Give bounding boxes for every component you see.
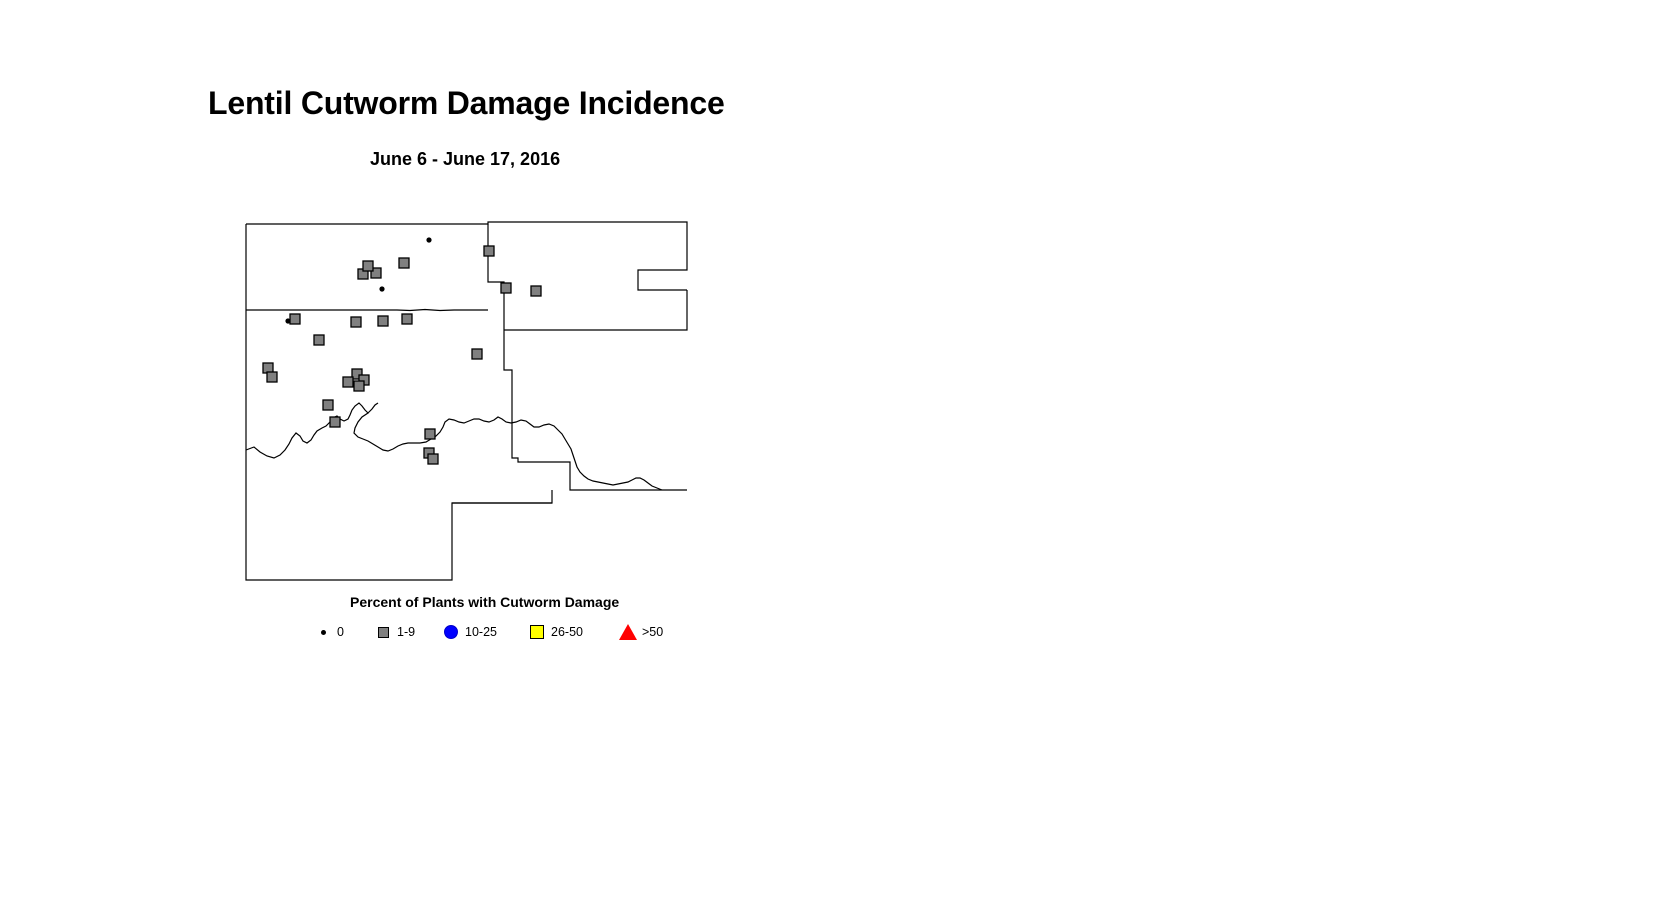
map-point-marker[interactable] bbox=[314, 335, 324, 345]
page-title: Lentil Cutworm Damage Incidence bbox=[208, 86, 725, 121]
legend-item-label: 1-9 bbox=[397, 625, 415, 639]
legend-item-0[interactable]: 0 bbox=[313, 621, 344, 643]
map-point-marker[interactable] bbox=[428, 454, 438, 464]
map-point-marker[interactable] bbox=[399, 258, 409, 268]
map-point-marker[interactable] bbox=[501, 283, 511, 293]
region-boundaries bbox=[246, 222, 687, 580]
legend-item-label: >50 bbox=[642, 625, 663, 639]
yellow-square-icon bbox=[527, 622, 547, 642]
map-point-marker[interactable] bbox=[323, 400, 333, 410]
map-point-marker[interactable] bbox=[330, 417, 340, 427]
map-point-marker[interactable] bbox=[290, 314, 300, 324]
map-point-marker[interactable] bbox=[378, 316, 388, 326]
legend-item-2650[interactable]: 26-50 bbox=[527, 621, 583, 643]
map-point-marker[interactable] bbox=[402, 314, 412, 324]
map-point-marker[interactable] bbox=[354, 381, 364, 391]
blue-circle-icon bbox=[441, 622, 461, 642]
legend-title: Percent of Plants with Cutworm Damage bbox=[350, 594, 619, 610]
date-range-subtitle: June 6 - June 17, 2016 bbox=[370, 150, 560, 170]
map-point-marker[interactable] bbox=[379, 286, 384, 291]
legend-item-1025[interactable]: 10-25 bbox=[441, 621, 497, 643]
legend-item-19[interactable]: 1-9 bbox=[373, 621, 415, 643]
map-point-marker[interactable] bbox=[351, 317, 361, 327]
legend: 01-910-2526-50>50 bbox=[313, 621, 693, 643]
map-figure: Lentil Cutworm Damage Incidence June 6 -… bbox=[0, 0, 1673, 900]
data-point-markers bbox=[263, 237, 541, 464]
map-canvas bbox=[240, 200, 740, 595]
gray-square-icon bbox=[373, 622, 393, 642]
map-point-marker[interactable] bbox=[472, 349, 482, 359]
red-triangle-icon bbox=[618, 622, 638, 642]
map-point-marker[interactable] bbox=[484, 246, 494, 256]
legend-item-label: 26-50 bbox=[551, 625, 583, 639]
map-point-marker[interactable] bbox=[425, 429, 435, 439]
small-black-dot-icon bbox=[313, 622, 333, 642]
legend-item-50[interactable]: >50 bbox=[618, 621, 663, 643]
legend-item-label: 10-25 bbox=[465, 625, 497, 639]
legend-item-label: 0 bbox=[337, 625, 344, 639]
map-svg bbox=[240, 200, 740, 595]
map-point-marker[interactable] bbox=[267, 372, 277, 382]
map-point-marker[interactable] bbox=[426, 237, 431, 242]
map-point-marker[interactable] bbox=[363, 261, 373, 271]
map-point-marker[interactable] bbox=[531, 286, 541, 296]
map-point-marker[interactable] bbox=[343, 377, 353, 387]
